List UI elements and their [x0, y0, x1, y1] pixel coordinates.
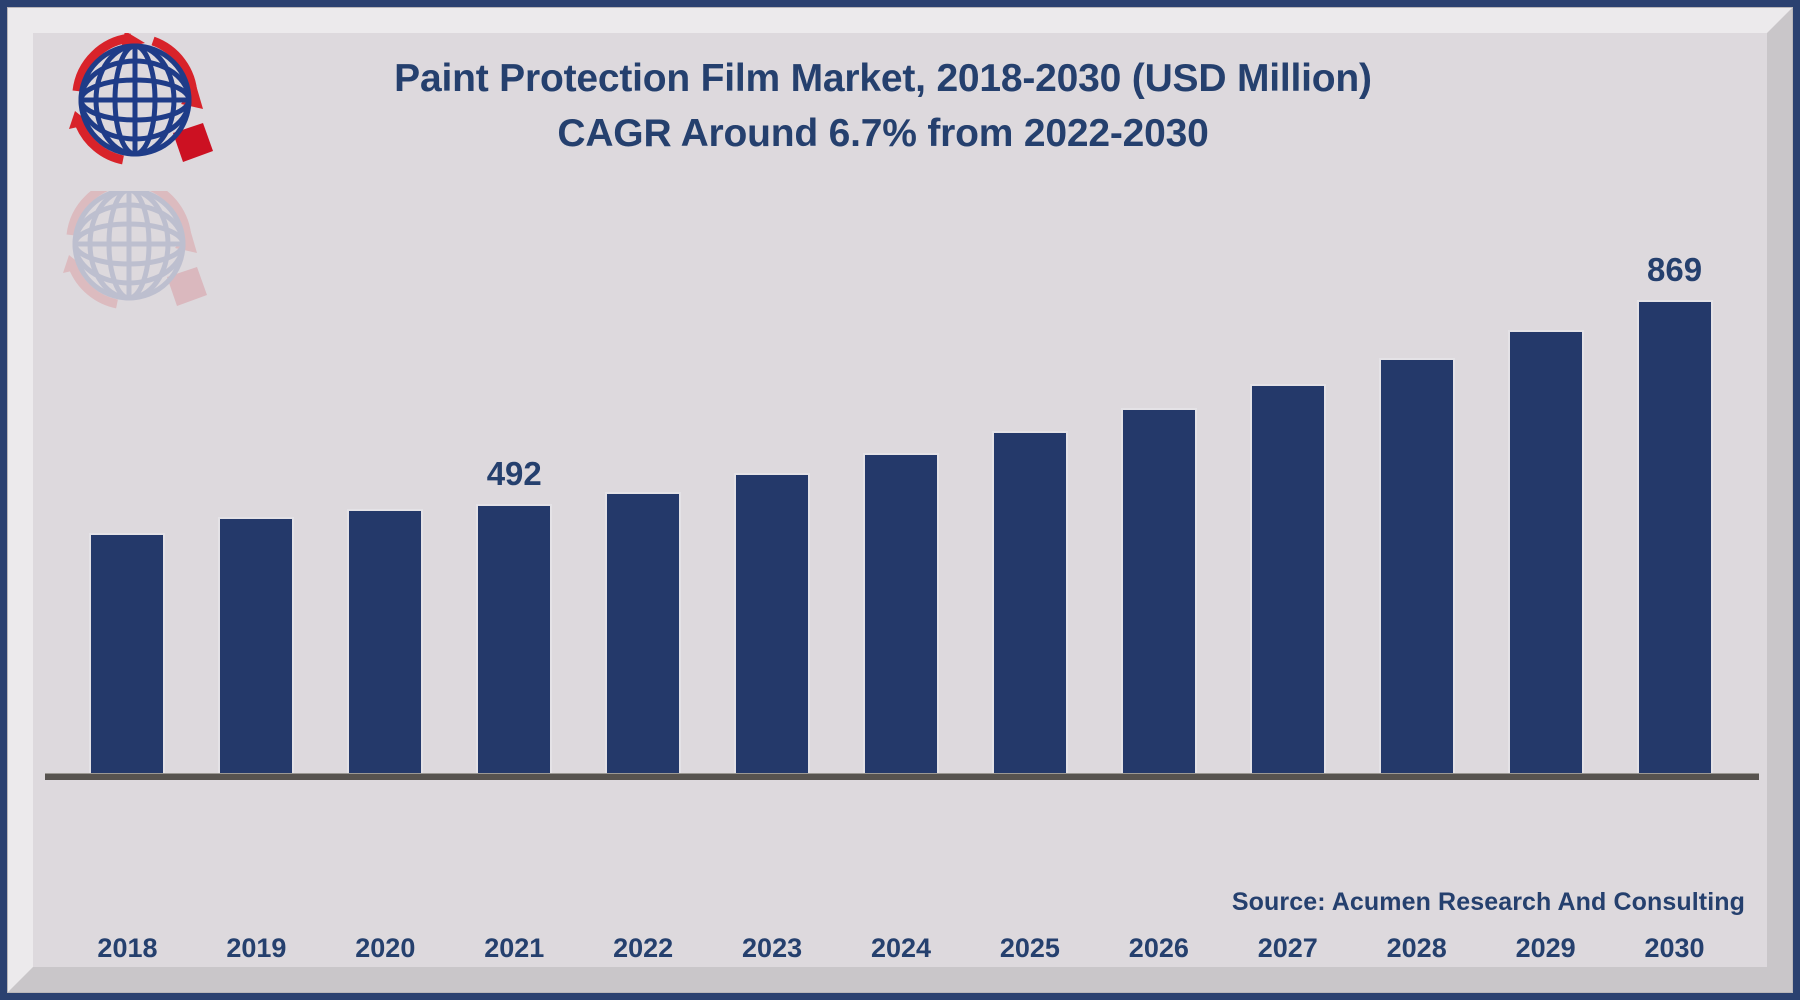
infographic-canvas: Paint Protection Film Market, 2018-2030 …: [33, 33, 1767, 967]
bar-slot: [579, 173, 708, 773]
bar-2025[interactable]: [992, 431, 1068, 773]
bar-2024[interactable]: [863, 453, 939, 773]
bar-value-label: 869: [1610, 253, 1739, 286]
x-axis-label-2028: 2028: [1352, 933, 1481, 964]
x-axis-label-2024: 2024: [837, 933, 966, 964]
x-axis-label-2019: 2019: [192, 933, 321, 964]
bar-slot: 869: [1610, 173, 1739, 773]
chart-plot-area: 492869: [45, 173, 1757, 773]
x-axis-label-2021: 2021: [450, 933, 579, 964]
x-axis-label-2022: 2022: [579, 933, 708, 964]
bar-slot: [1481, 173, 1610, 773]
infographic-root: Paint Protection Film Market, 2018-2030 …: [0, 0, 1800, 1000]
bar-2020[interactable]: [347, 509, 423, 773]
x-axis-label-2027: 2027: [1223, 933, 1352, 964]
bar-2028[interactable]: [1379, 358, 1455, 773]
bar-slot: [321, 173, 450, 773]
bar-slot: 492: [450, 173, 579, 773]
bar-2029[interactable]: [1508, 330, 1584, 773]
bar-slot: [1223, 173, 1352, 773]
x-axis-label-2026: 2026: [1094, 933, 1223, 964]
bar-2027[interactable]: [1250, 384, 1326, 773]
chart-title-block: Paint Protection Film Market, 2018-2030 …: [233, 51, 1533, 162]
x-axis-label-2029: 2029: [1481, 933, 1610, 964]
bar-slot: [1352, 173, 1481, 773]
bar-slot: [192, 173, 321, 773]
x-axis-line: [45, 773, 1759, 780]
bar-slot: [837, 173, 966, 773]
bar-2030[interactable]: [1637, 300, 1713, 773]
bar-value-label: 492: [450, 457, 579, 490]
bar-2023[interactable]: [734, 473, 810, 773]
bar-slot: [708, 173, 837, 773]
x-axis-label-2020: 2020: [321, 933, 450, 964]
acumen-globe-logo: [53, 33, 223, 180]
bar-chart: 492869 201820192020202120222023202420252…: [33, 173, 1767, 773]
chart-title-line-1: Paint Protection Film Market, 2018-2030 …: [233, 51, 1533, 106]
x-axis-label-2018: 2018: [63, 933, 192, 964]
bar-slot: [63, 173, 192, 773]
x-axis-label-2030: 2030: [1610, 933, 1739, 964]
x-axis-tick-labels: 2018201920202021202220232024202520262027…: [45, 933, 1757, 964]
bar-slot: [1094, 173, 1223, 773]
bar-2019[interactable]: [218, 517, 294, 773]
bar-2021[interactable]: [476, 504, 552, 773]
x-axis-label-2023: 2023: [708, 933, 837, 964]
source-attribution: Source: Acumen Research And Consulting: [1232, 888, 1745, 917]
chart-title-line-2: CAGR Around 6.7% from 2022-2030: [233, 106, 1533, 161]
bar-2026[interactable]: [1121, 408, 1197, 773]
bar-2022[interactable]: [605, 492, 681, 773]
bar-2018[interactable]: [89, 533, 165, 773]
bar-slot: [965, 173, 1094, 773]
x-axis-label-2025: 2025: [965, 933, 1094, 964]
